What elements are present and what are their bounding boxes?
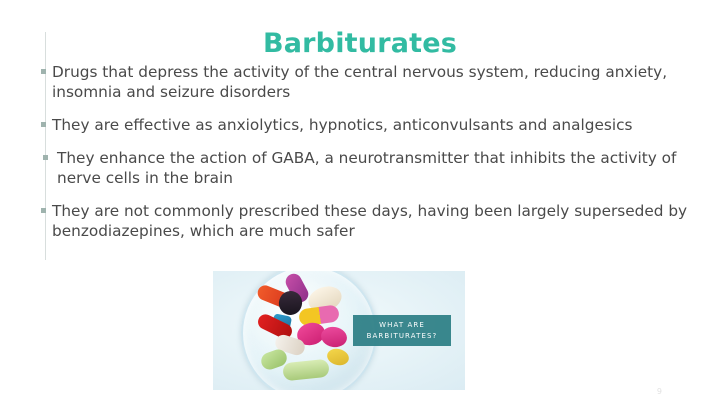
square-bullet-icon <box>41 208 46 213</box>
list-item-text: Drugs that depress the activity of the c… <box>52 62 712 102</box>
page-title: Barbiturates <box>0 28 720 59</box>
list-item: They are not commonly prescribed these d… <box>40 201 712 241</box>
square-bullet-icon <box>43 155 48 160</box>
presentation-slide: Barbiturates Drugs that depress the acti… <box>0 0 720 404</box>
list-item-text: They are effective as anxiolytics, hypno… <box>52 115 712 135</box>
slide-number: 9 <box>657 387 662 396</box>
banner-line-2: BARBITURATES? <box>353 331 451 342</box>
pills-in-bowl-image: WHAT ARE BARBITURATES? <box>213 271 465 390</box>
list-item: They are effective as anxiolytics, hypno… <box>40 115 712 135</box>
list-item: Drugs that depress the activity of the c… <box>40 62 712 102</box>
list-item: They enhance the action of GABA, a neuro… <box>40 148 712 188</box>
square-bullet-icon <box>41 122 46 127</box>
bullet-list: Drugs that depress the activity of the c… <box>40 62 712 254</box>
square-bullet-icon <box>41 69 46 74</box>
list-item-text: They are not commonly prescribed these d… <box>52 201 712 241</box>
photo-caption-banner: WHAT ARE BARBITURATES? <box>353 315 451 346</box>
banner-line-1: WHAT ARE <box>353 320 451 331</box>
list-item-text: They enhance the action of GABA, a neuro… <box>57 148 712 188</box>
